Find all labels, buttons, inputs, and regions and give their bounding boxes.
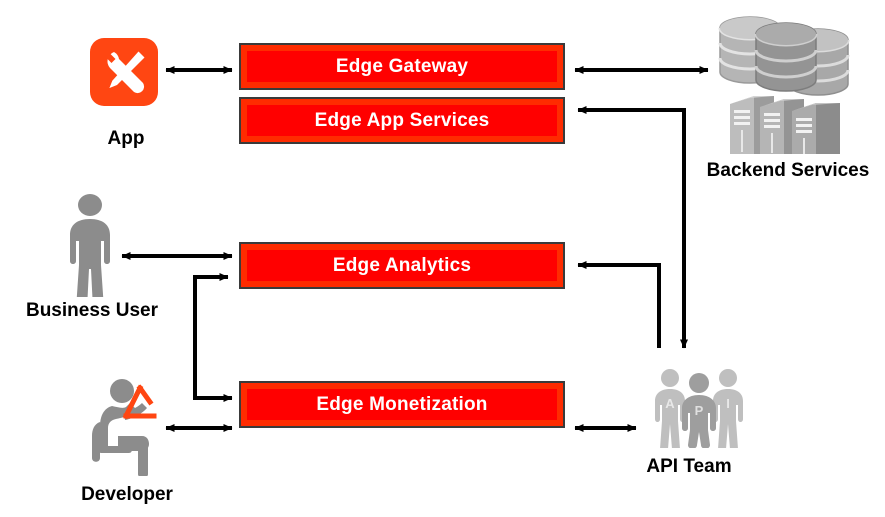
connector-monetization-to-analytics <box>195 277 232 398</box>
service-label-edge-app-services: Edge App Services <box>315 110 490 132</box>
server-racks <box>730 96 840 154</box>
node-label-business-user: Business User <box>12 300 172 322</box>
service-label-edge-monetization: Edge Monetization <box>316 394 487 416</box>
service-label-edge-gateway: Edge Gateway <box>336 56 468 78</box>
api-team-letter-a: A <box>665 396 675 411</box>
connector-api-team-to-analytics <box>578 265 659 348</box>
node-label-api-team: API Team <box>634 456 744 478</box>
backend-services-icon <box>712 8 862 156</box>
service-label-edge-analytics: Edge Analytics <box>333 255 471 277</box>
api-team-icon: A I P <box>648 366 750 448</box>
service-box-edge-analytics[interactable]: Edge Analytics <box>239 242 565 289</box>
api-team-letter-p: P <box>695 403 704 418</box>
app-tools-icon <box>90 38 158 106</box>
diagram-canvas: Edge Gateway Edge App Services Edge Anal… <box>0 0 885 517</box>
service-box-edge-gateway[interactable]: Edge Gateway <box>239 43 565 90</box>
node-label-app: App <box>91 128 161 150</box>
developer-icon <box>90 378 172 476</box>
node-label-backend-services: Backend Services <box>698 160 878 182</box>
connector-backend-to-app-services <box>578 110 684 175</box>
node-label-developer: Developer <box>72 484 182 506</box>
service-box-edge-app-services[interactable]: Edge App Services <box>239 97 565 144</box>
service-box-edge-monetization[interactable]: Edge Monetization <box>239 381 565 428</box>
business-user-icon <box>52 193 128 297</box>
api-team-letter-i: I <box>726 396 730 411</box>
database-cylinders <box>720 17 848 95</box>
